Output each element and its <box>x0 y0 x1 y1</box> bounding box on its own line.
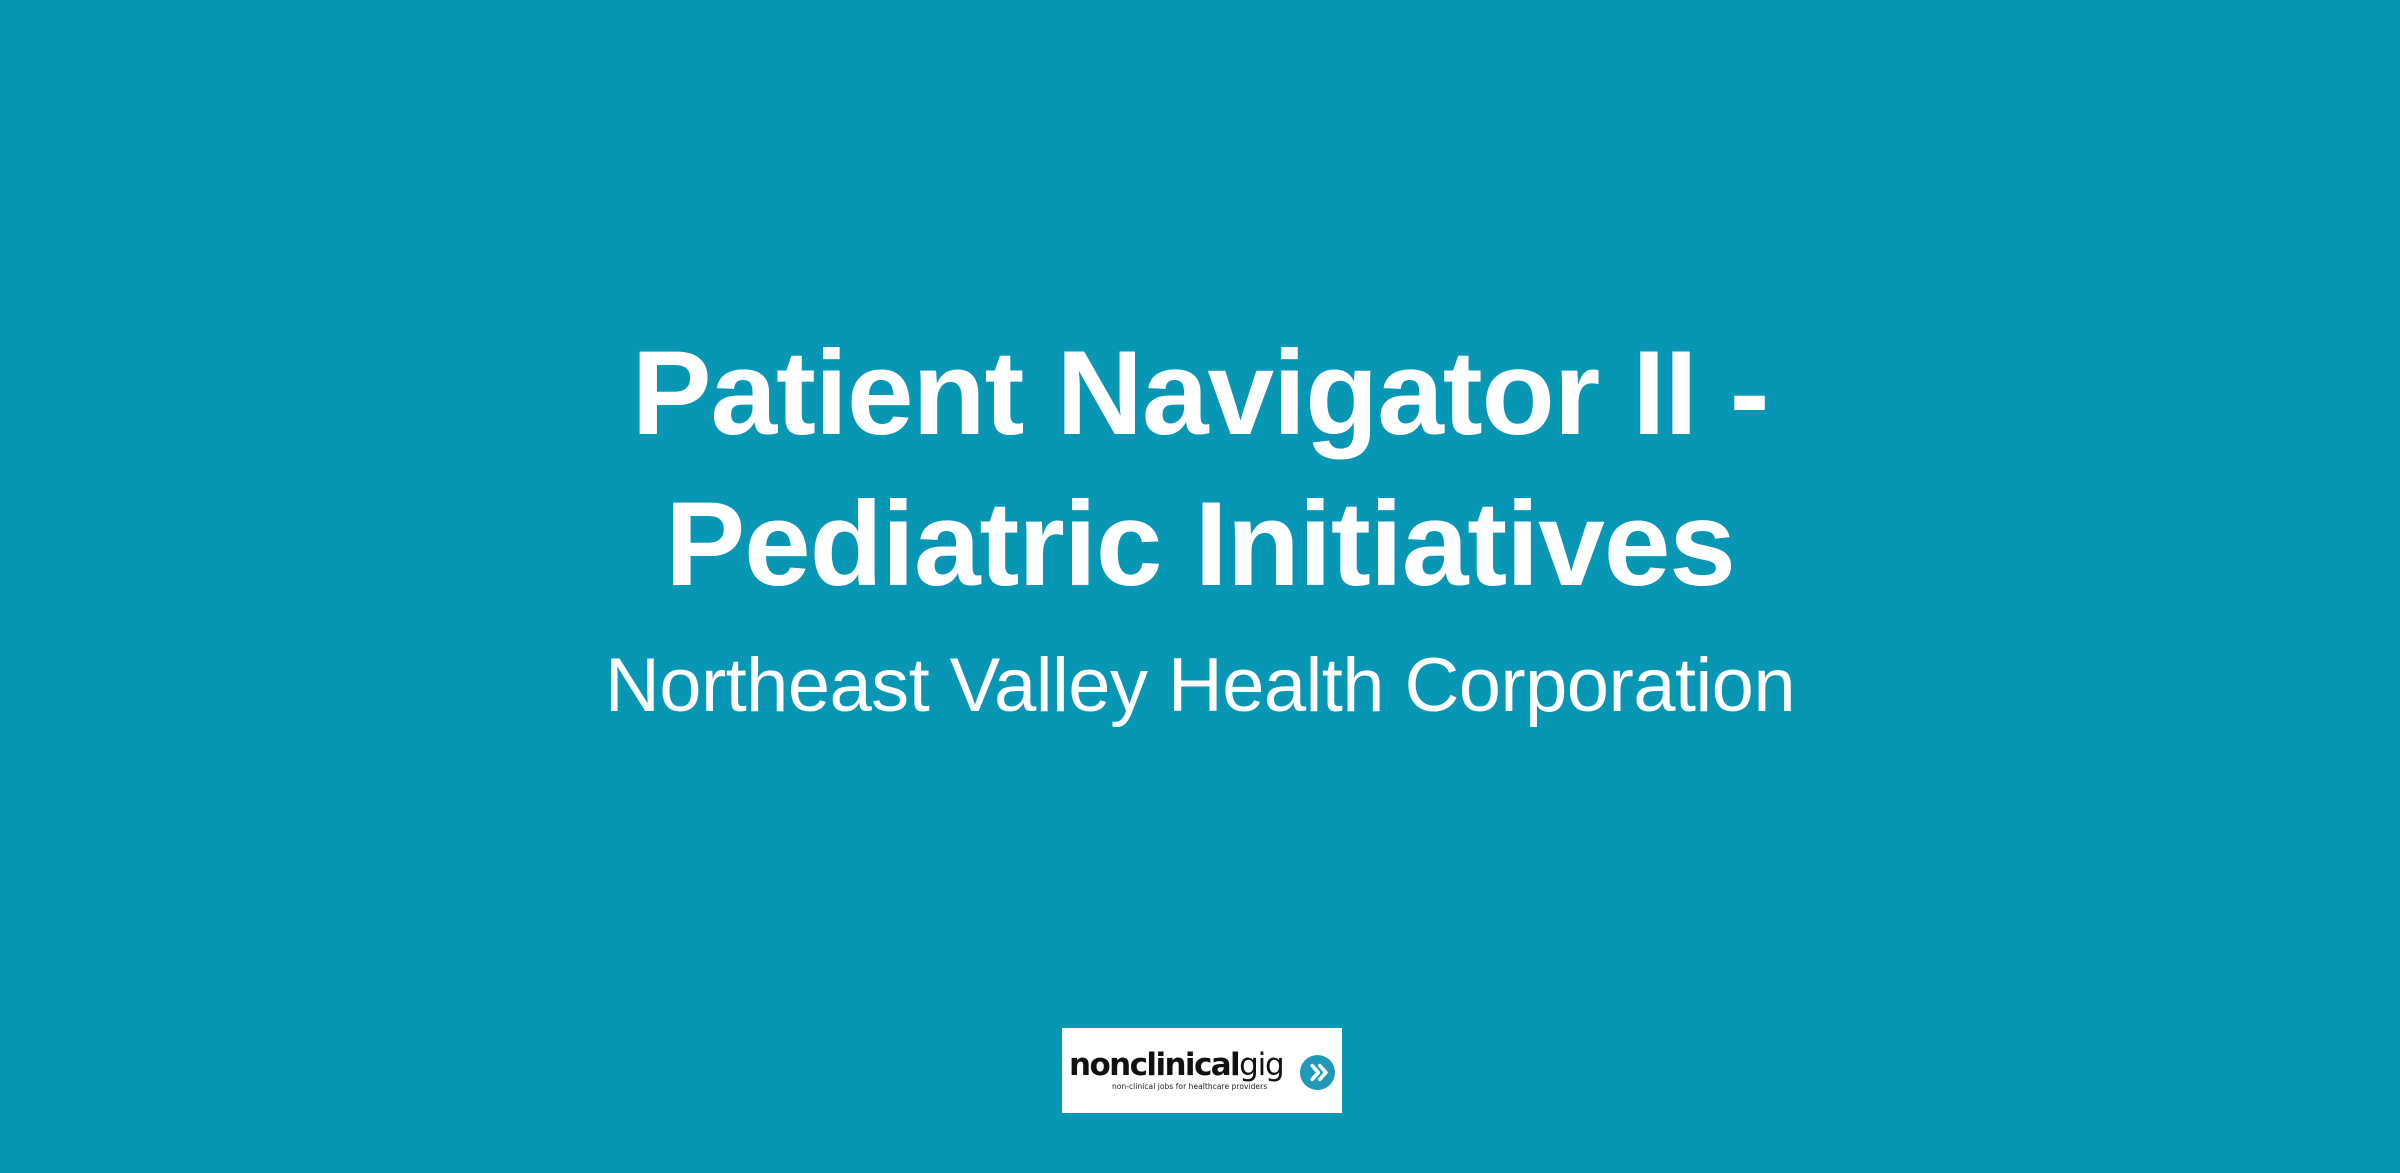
logo-wordmark: nonclinicalgig <box>1069 1050 1283 1081</box>
logo-tagline: non-clinical jobs for healthcare provide… <box>1112 1082 1267 1091</box>
page-title: Patient Navigator II - Pediatric Initiat… <box>370 318 2030 620</box>
logo-wordmark-secondary: gig <box>1239 1047 1283 1083</box>
brand-logo: nonclinicalgig non-clinical jobs for hea… <box>1062 1028 1342 1113</box>
slide-text-block: Patient Navigator II - Pediatric Initiat… <box>0 0 2400 1173</box>
double-chevron-right-icon <box>1300 1055 1335 1090</box>
title-slide: Patient Navigator II - Pediatric Initiat… <box>0 0 2400 1173</box>
slide-subtitle: Northeast Valley Health Corporation <box>250 620 2150 731</box>
logo-wordmark-primary: nonclinical <box>1069 1047 1239 1083</box>
logo-inner: nonclinicalgig non-clinical jobs for hea… <box>1062 1028 1342 1113</box>
